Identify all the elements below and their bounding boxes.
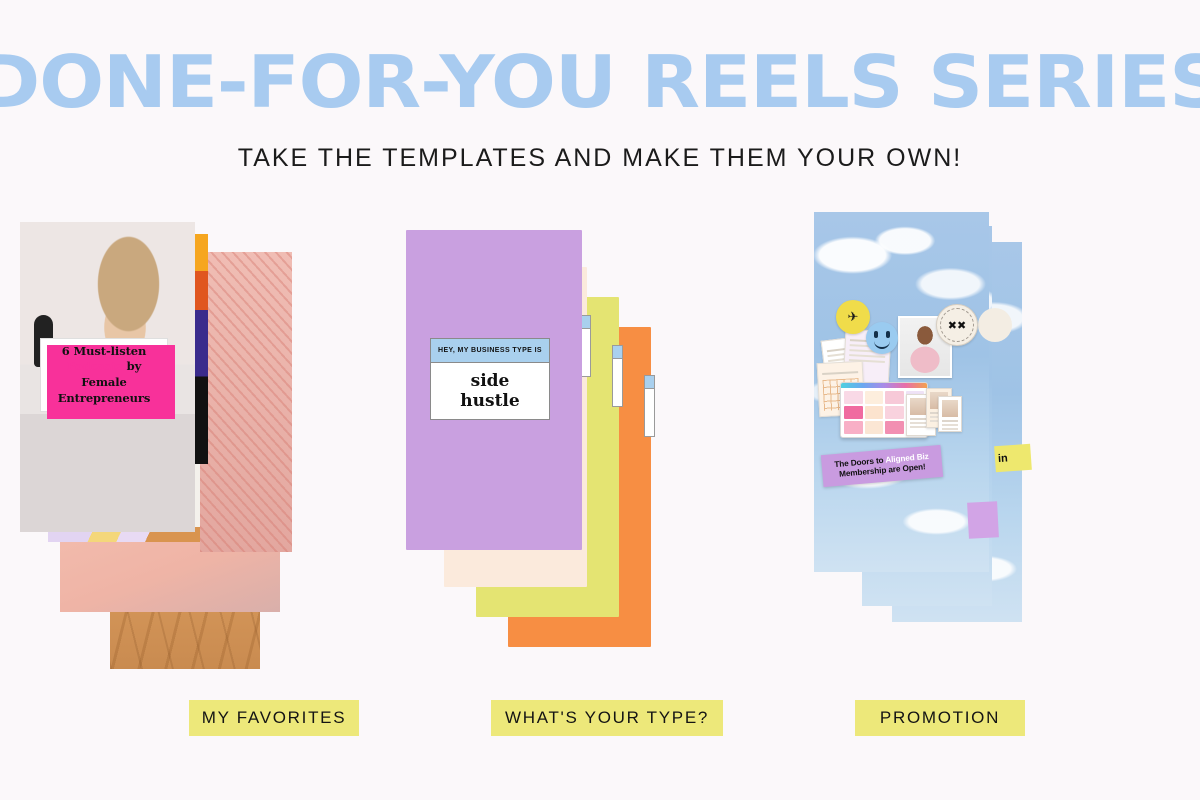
business-type-name-tag: HEY, MY BUSINESS TYPE IS side hustle [430, 338, 550, 420]
overlay-line-1: 6 Must-listen [62, 344, 147, 358]
overlay-line-4: Entrepreneurs [58, 391, 151, 405]
template-card-promotion[interactable]: in ✈ [800, 212, 1200, 672]
join-us-now-stamp: ✖✖ [936, 304, 978, 346]
stack-tag-mini-2 [612, 345, 623, 407]
page-subtitle: TAKE THE TEMPLATES AND MAKE THEM YOUR OW… [0, 144, 1200, 173]
name-tag-header: HEY, MY BUSINESS TYPE IS [431, 339, 549, 363]
reel-text-overlay: 6 Must-listen Podcasts by Female Entrepr… [40, 338, 168, 412]
mini-mockup-3 [938, 396, 962, 432]
template-card-my-favorites[interactable]: 6 Must-listen Podcasts by Female Entrepr… [0, 212, 400, 672]
back-tag-yellow: in [994, 444, 1032, 472]
stack-tag-mini-3 [644, 375, 655, 437]
promotion-banner-copy: The Doors to Aligned Biz Membership are … [821, 451, 942, 482]
promotion-collage: ✈ ✖✖ The Doors to Aligned Biz Membership… [814, 212, 989, 572]
label-my-favorites[interactable]: MY FAVORITES [189, 700, 359, 736]
overlay-highlight: Podcasts [67, 359, 123, 373]
name-tag-value: side hustle [431, 363, 549, 420]
template-card-grid: 6 Must-listen Podcasts by Female Entrepr… [0, 212, 1200, 672]
promotion-banner: The Doors to Aligned Biz Membership are … [821, 445, 943, 487]
name-tag-value-line-1: side [471, 371, 510, 391]
photo-layer-pink-right [200, 252, 292, 552]
reel-text-overlay-copy: 6 Must-listen Podcasts by Female Entrepr… [58, 344, 151, 406]
stamp-ring [940, 308, 974, 342]
card-label-row: MY FAVORITES WHAT'S YOUR TYPE? PROMOTION [0, 700, 1200, 740]
overlay-line-2-rest: by [123, 359, 141, 373]
template-card-whats-your-type[interactable]: HEY, MY BUSINESS TYPE IS side hustle [400, 212, 800, 672]
page-title: DONE-FOR-YOU REELS SERIES [0, 48, 1200, 116]
label-whats-your-type[interactable]: WHAT'S YOUR TYPE? [491, 700, 723, 736]
laptop-toolbar [841, 383, 927, 388]
label-promotion[interactable]: PROMOTION [855, 700, 1025, 736]
airplane-sticker: ✈ [836, 300, 870, 334]
overlay-line-3: Female [81, 375, 127, 389]
name-tag-value-line-2: hustle [460, 391, 519, 411]
page-header: DONE-FOR-YOU REELS SERIES TAKE THE TEMPL… [0, 0, 1200, 173]
smiley-sticker [866, 322, 898, 354]
